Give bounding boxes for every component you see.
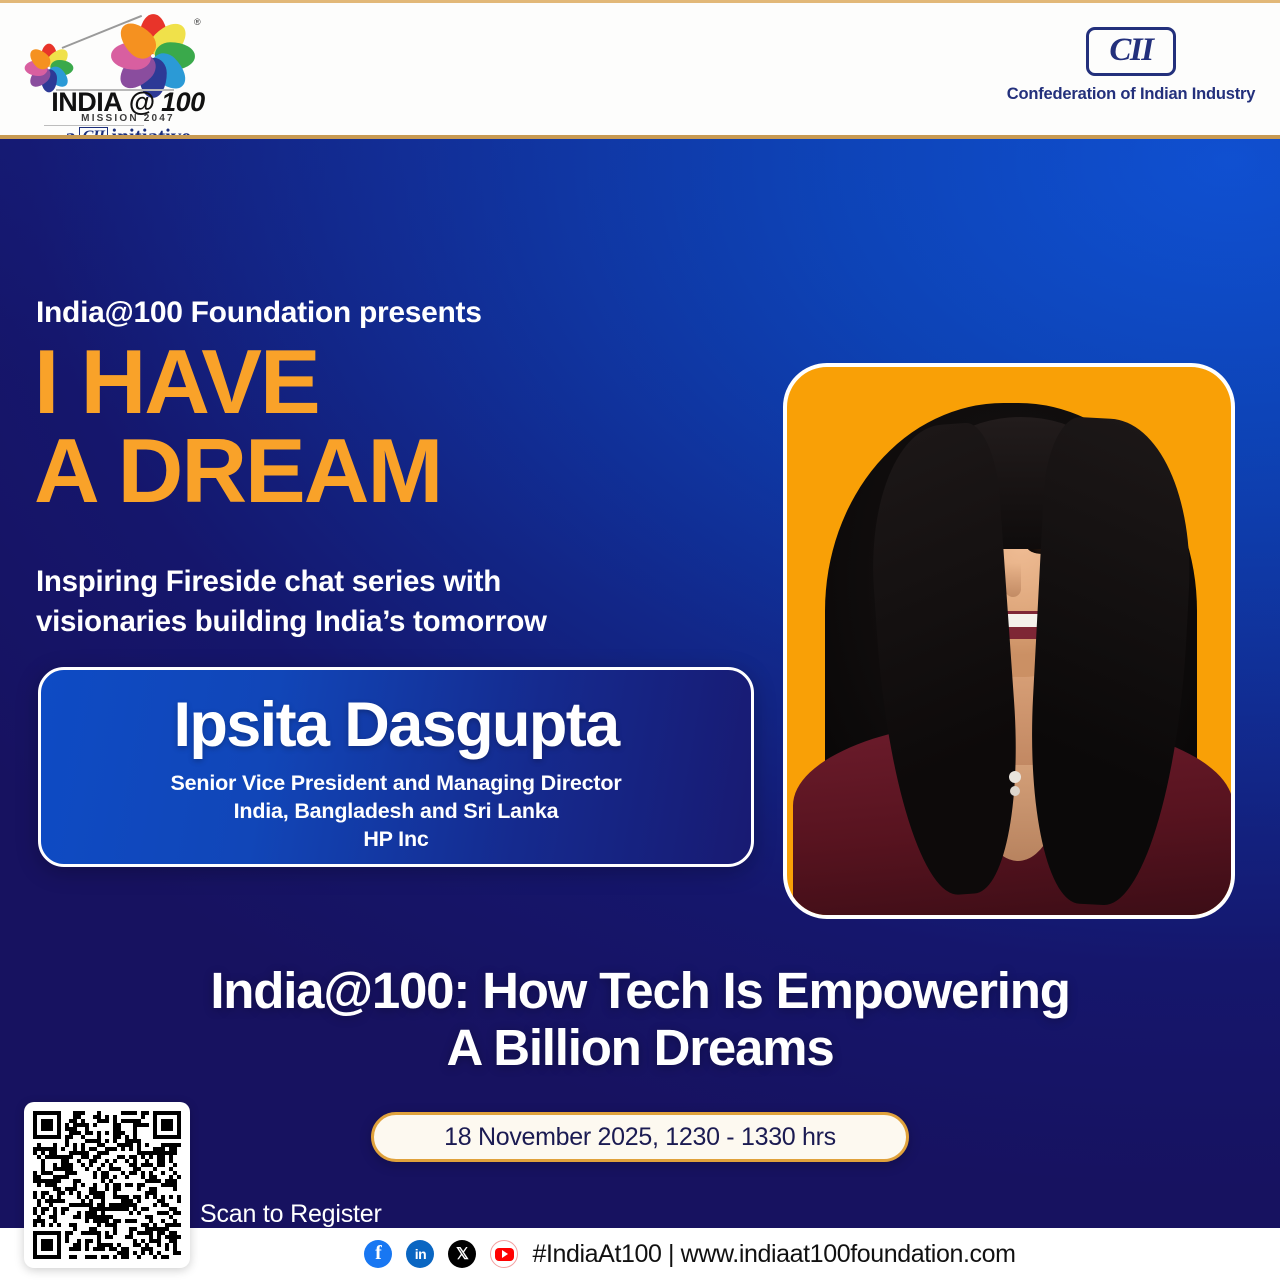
campaign-title-line1: I HAVE [34, 332, 319, 433]
campaign-subhead-line1: Inspiring Fireside chat series with [36, 565, 501, 598]
speaker-designation-line1: Senior Vice President and Managing Direc… [171, 771, 622, 795]
speaker-name: Ipsita Dasgupta [41, 694, 751, 757]
x-twitter-icon[interactable]: 𝕏 [448, 1240, 476, 1268]
speaker-designation: Senior Vice President and Managing Direc… [41, 770, 751, 854]
speaker-portrait-frame [783, 363, 1235, 919]
scan-to-register-label: Scan to Register [200, 1200, 382, 1229]
registered-mark: ® [194, 17, 201, 27]
youtube-icon[interactable] [490, 1240, 518, 1268]
event-poster: ® INDIA @ 100 MISSION 2047 aCIIinitiativ… [0, 0, 1280, 1280]
speaker-name-card: Ipsita Dasgupta Senior Vice President an… [38, 667, 754, 867]
speaker-company: HP Inc [363, 827, 428, 851]
cii-logo-box: CII [1086, 27, 1175, 76]
logo-mission-tagline: MISSION 2047 [28, 113, 228, 124]
speaker-portrait [783, 363, 1235, 919]
linkedin-icon[interactable]: in [406, 1240, 434, 1268]
logo-wordmark: INDIA @ 100 [28, 89, 228, 116]
campaign-title: I HAVE A DREAM [34, 338, 441, 516]
facebook-icon[interactable]: f [364, 1240, 392, 1268]
campaign-subhead: Inspiring Fireside chat series with visi… [36, 562, 636, 642]
poster-footer: f in 𝕏 #IndiaAt100 | www.indiaat100found… [0, 1228, 1280, 1280]
speaker-designation-line2: India, Bangladesh and Sri Lanka [234, 799, 559, 823]
campaign-subhead-line2: visionaries building India’s tomorrow [36, 605, 547, 638]
cii-full-name: Confederation of Indian Industry [1006, 85, 1256, 104]
session-title-line1: India@100: How Tech Is Empowering [210, 962, 1069, 1019]
india-at-100-logo: ® INDIA @ 100 MISSION 2047 aCIIinitiativ… [18, 9, 228, 135]
poster-header: ® INDIA @ 100 MISSION 2047 aCIIinitiativ… [0, 3, 1280, 137]
pinwheel-small-icon [24, 43, 74, 93]
session-datetime-badge: 18 November 2025, 1230 - 1330 hrs [371, 1112, 909, 1162]
qr-code[interactable] [24, 1102, 190, 1268]
cii-wordmark: CII [1109, 33, 1152, 68]
campaign-title-line2: A DREAM [34, 427, 441, 516]
portrait-nose [1005, 563, 1021, 597]
qr-code-canvas[interactable] [33, 1111, 181, 1259]
presents-line: India@100 Foundation presents [36, 296, 482, 330]
session-title: India@100: How Tech Is Empowering A Bill… [90, 962, 1190, 1076]
session-title-line2: A Billion Dreams [446, 1019, 833, 1076]
portrait-necklace [1009, 771, 1021, 783]
cii-logo: CII Confederation of Indian Industry [1006, 27, 1256, 121]
handle-and-website[interactable]: #IndiaAt100 | www.indiaat100foundation.c… [532, 1240, 1015, 1269]
